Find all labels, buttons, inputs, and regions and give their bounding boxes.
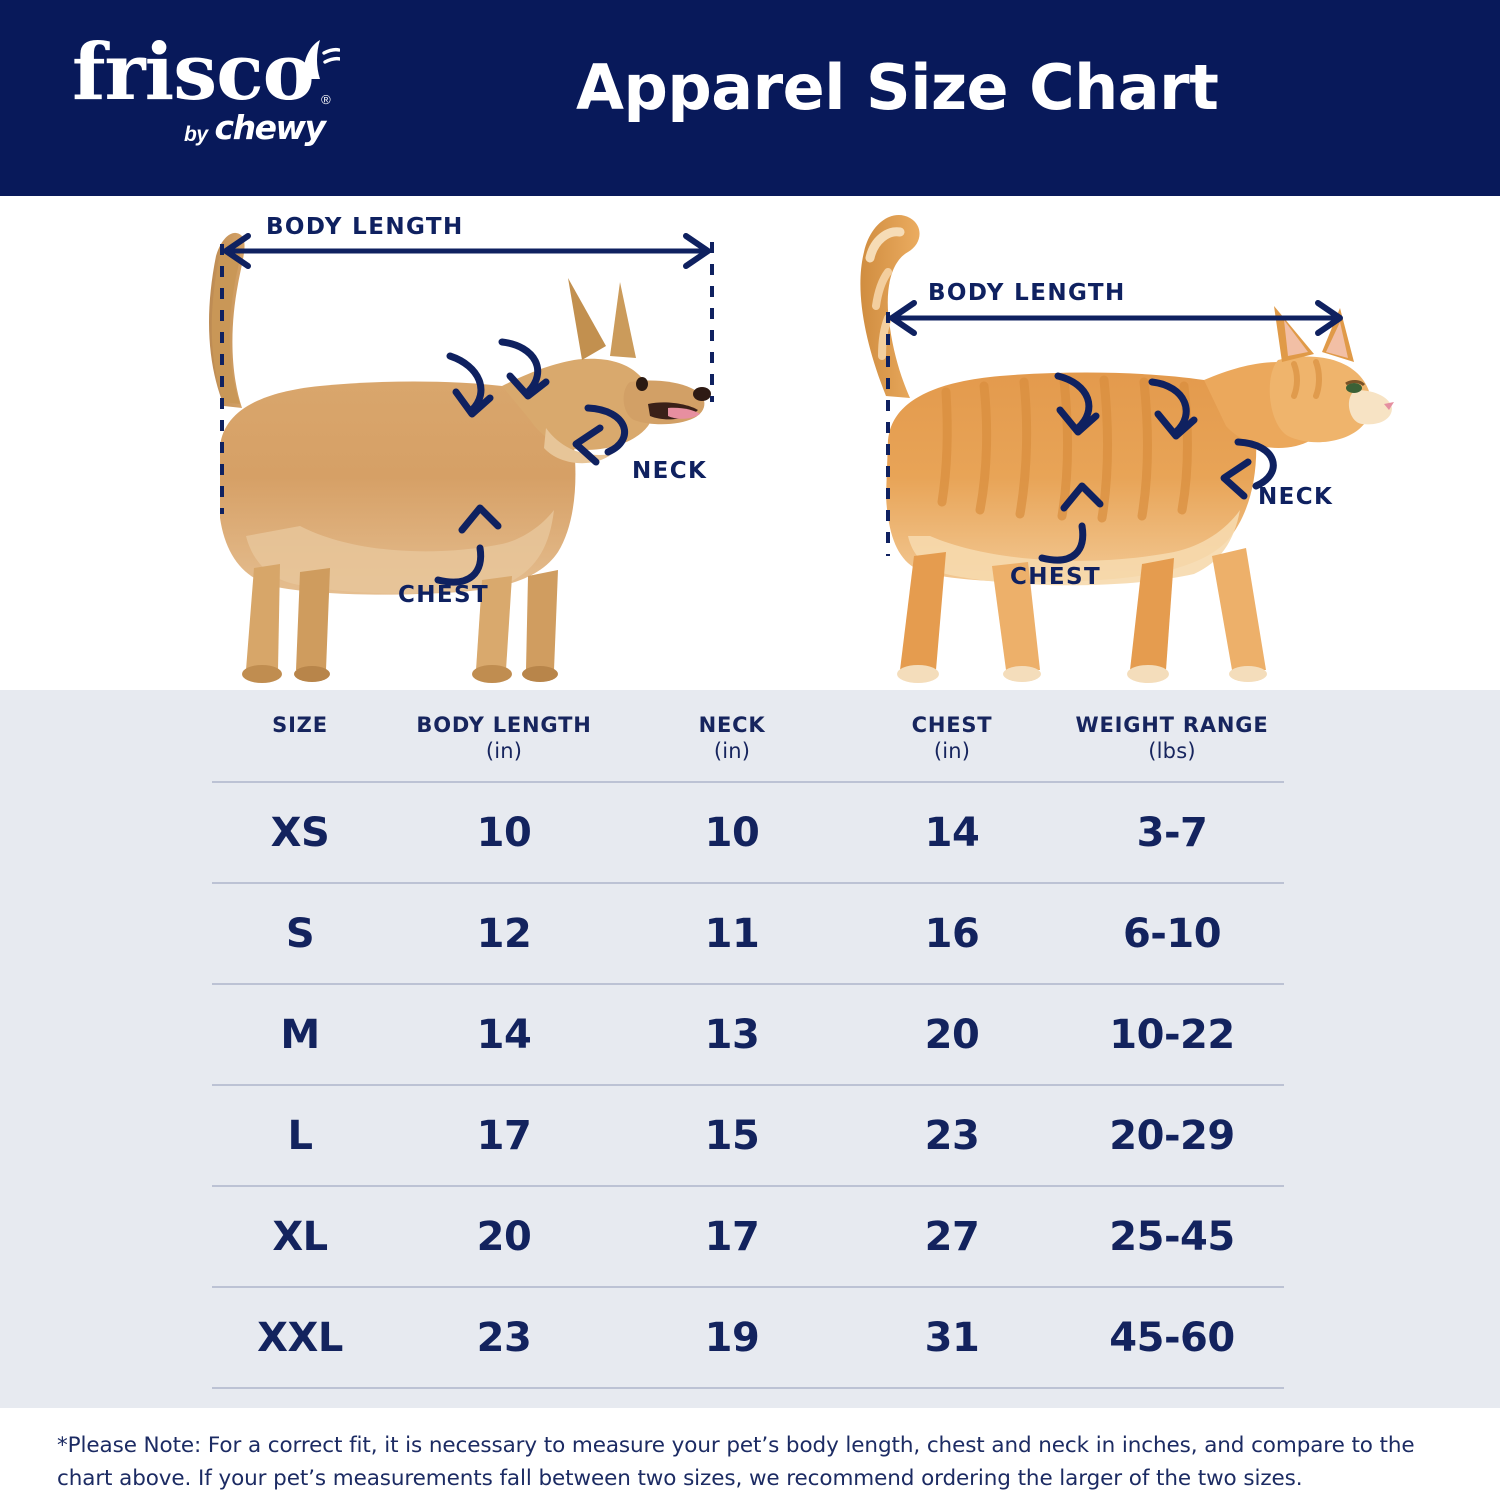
table-header: SIZE BODY LENGTH (in) NECK (in) CHEST (i… <box>212 690 1284 782</box>
footer-area: *Please Note: For a correct fit, it is n… <box>0 1408 1500 1500</box>
dog-body-length-label: BODY LENGTH <box>266 214 464 240</box>
dog-ear-swoosh-icon <box>300 28 340 106</box>
cat-body-length-label: BODY LENGTH <box>928 280 1126 306</box>
cell-body-length: 12 <box>388 883 620 984</box>
cell-chest: 23 <box>844 1085 1060 1186</box>
cell-size: XXL <box>212 1287 388 1388</box>
cell-chest: 31 <box>844 1287 1060 1388</box>
cat-measurement-illustration: BODY LENGTH NECK CHEST <box>770 196 1410 690</box>
cell-neck: 11 <box>620 883 844 984</box>
cell-neck: 17 <box>620 1186 844 1287</box>
logo-wordmark: frisco ® <box>72 34 314 112</box>
cell-neck: 10 <box>620 782 844 883</box>
column-header-body-length: BODY LENGTH (in) <box>388 690 620 782</box>
cell-size: XS <box>212 782 388 883</box>
cell-chest: 20 <box>844 984 1060 1085</box>
cell-body-length: 20 <box>388 1186 620 1287</box>
cell-chest: 14 <box>844 782 1060 883</box>
column-header-weight-range: WEIGHT RANGE (lbs) <box>1060 690 1284 782</box>
cat-annotation-overlay <box>770 196 1410 690</box>
cell-weight-range: 10-22 <box>1060 984 1284 1085</box>
cell-size: L <box>212 1085 388 1186</box>
dog-neck-label: NECK <box>632 458 707 484</box>
cell-body-length: 17 <box>388 1085 620 1186</box>
cell-body-length: 10 <box>388 782 620 883</box>
illustration-area: BODY LENGTH NECK CHEST <box>0 196 1500 690</box>
cell-weight-range: 3-7 <box>1060 782 1284 883</box>
size-table-section: SIZE BODY LENGTH (in) NECK (in) CHEST (i… <box>0 690 1500 1408</box>
header-band: frisco ® by chewy Apparel Size Chart <box>0 0 1500 196</box>
cell-size: M <box>212 984 388 1085</box>
cell-weight-range: 20-29 <box>1060 1085 1284 1186</box>
apparel-size-chart-page: frisco ® by chewy Apparel Size Chart <box>0 0 1500 1500</box>
table-body: XS 10 10 14 3-7 S 12 11 16 6-10 M 14 13 <box>212 782 1284 1489</box>
table-row: S 12 11 16 6-10 <box>212 883 1284 984</box>
cat-neck-label: NECK <box>1258 484 1333 510</box>
cell-weight-range: 25-45 <box>1060 1186 1284 1287</box>
frisco-by-chewy-logo: frisco ® by chewy <box>72 34 372 164</box>
cell-neck: 15 <box>620 1085 844 1186</box>
column-header-neck: NECK (in) <box>620 690 844 782</box>
table-row: M 14 13 20 10-22 <box>212 984 1284 1085</box>
dog-chest-label: CHEST <box>398 582 489 608</box>
cell-chest: 16 <box>844 883 1060 984</box>
logo-by-text: by <box>184 123 208 147</box>
cat-chest-curve-lower <box>1042 526 1083 560</box>
cat-chest-curve-upper-left <box>1058 376 1089 428</box>
table-header-row: SIZE BODY LENGTH (in) NECK (in) CHEST (i… <box>212 690 1284 782</box>
column-header-size: SIZE <box>212 690 388 782</box>
cell-size: S <box>212 883 388 984</box>
dog-measurement-illustration: BODY LENGTH NECK CHEST <box>150 196 770 690</box>
table-row: XXL 23 19 31 45-60 <box>212 1287 1284 1388</box>
table-row: XL 20 17 27 25-45 <box>212 1186 1284 1287</box>
cell-weight-range: 45-60 <box>1060 1287 1284 1388</box>
dog-annotation-overlay <box>150 196 770 690</box>
cell-weight-range: 6-10 <box>1060 883 1284 984</box>
cell-body-length: 14 <box>388 984 620 1085</box>
logo-text: frisco <box>72 27 314 118</box>
cell-neck: 19 <box>620 1287 844 1388</box>
table-row: L 17 15 23 20-29 <box>212 1085 1284 1186</box>
table-row: XS 10 10 14 3-7 <box>212 782 1284 883</box>
cell-size: XL <box>212 1186 388 1287</box>
apparel-size-table: SIZE BODY LENGTH (in) NECK (in) CHEST (i… <box>212 690 1284 1490</box>
column-header-chest: CHEST (in) <box>844 690 1060 782</box>
cell-neck: 13 <box>620 984 844 1085</box>
please-note-text: *Please Note: For a correct fit, it is n… <box>57 1430 1447 1495</box>
cat-chest-label: CHEST <box>1010 564 1101 590</box>
cell-chest: 27 <box>844 1186 1060 1287</box>
cell-body-length: 23 <box>388 1287 620 1388</box>
dog-chest-curve-lower <box>438 548 481 582</box>
page-title: Apparel Size Chart <box>576 52 1218 123</box>
